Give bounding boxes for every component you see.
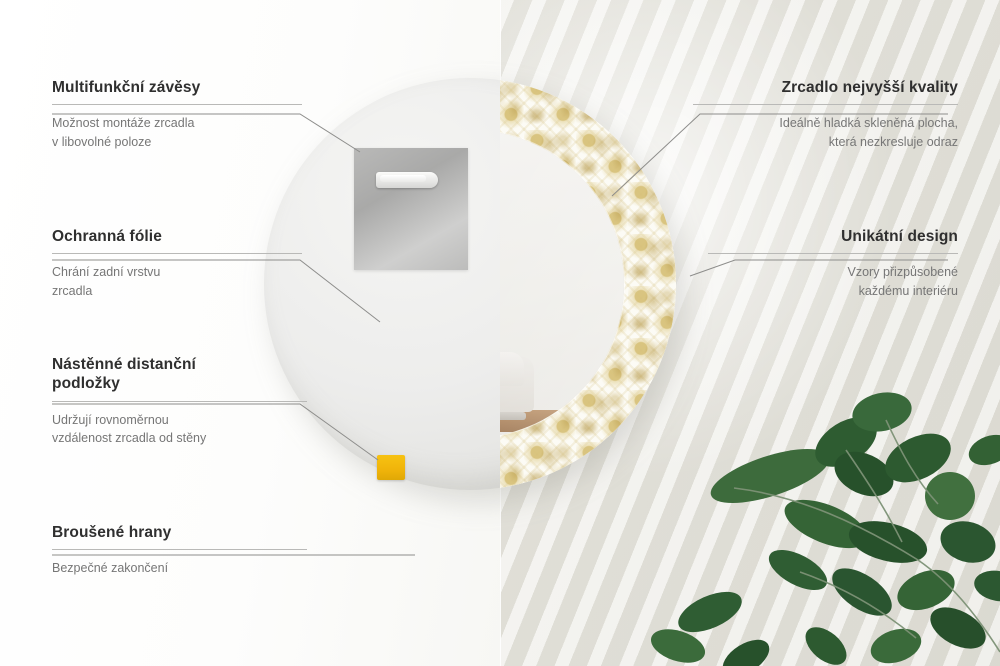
callout-title: Broušené hrany — [52, 523, 307, 542]
callout-description: Bezpečné zakončení — [52, 559, 307, 577]
callout-description: Chrání zadní vrstvu zrcadla — [52, 263, 302, 299]
callout-protective-film: Ochranná fólie Chrání zadní vrstvu zrcad… — [52, 227, 302, 300]
callout-title: Ochranná fólie — [52, 227, 302, 246]
callout-title: Unikátní design — [708, 227, 958, 246]
eucalyptus-branch-icon — [650, 346, 1000, 666]
callout-title: Zrcadlo nejvyšší kvality — [693, 78, 958, 97]
callout-wall-spacers: Nástěnné distanční podložky Udržují rovn… — [52, 355, 307, 447]
callout-title: Nástěnné distanční podložky — [52, 355, 307, 394]
callout-description: Možnost montáže zrcadla v libovolné polo… — [52, 114, 302, 150]
callout-top-quality-mirror: Zrcadlo nejvyšší kvality Ideálně hladká … — [693, 78, 958, 151]
spacer-pad-icon — [377, 455, 405, 480]
callout-rule — [693, 104, 958, 105]
callout-rule — [52, 401, 307, 402]
callout-rule — [52, 549, 307, 550]
callout-description: Ideálně hladká skleněná plocha, která ne… — [693, 114, 958, 150]
callout-title: Multifunkční závěsy — [52, 78, 302, 97]
callout-ground-edges: Broušené hrany Bezpečné zakončení — [52, 523, 307, 578]
mirror-product — [264, 78, 676, 490]
callout-multifunctional-hinges: Multifunkční závěsy Možnost montáže zrca… — [52, 78, 302, 151]
callout-description: Udržují rovnoměrnou vzdálenost zrcadla o… — [52, 411, 307, 447]
callout-unique-design: Unikátní design Vzory přizpůsobené každé… — [708, 227, 958, 300]
hanger-bracket-icon — [354, 148, 468, 270]
callout-rule — [708, 253, 958, 254]
callout-rule — [52, 104, 302, 105]
callout-rule — [52, 253, 302, 254]
infographic-stage: Multifunkční závěsy Možnost montáže zrca… — [0, 0, 1000, 666]
callout-description: Vzory přizpůsobené každému interiéru — [708, 263, 958, 299]
